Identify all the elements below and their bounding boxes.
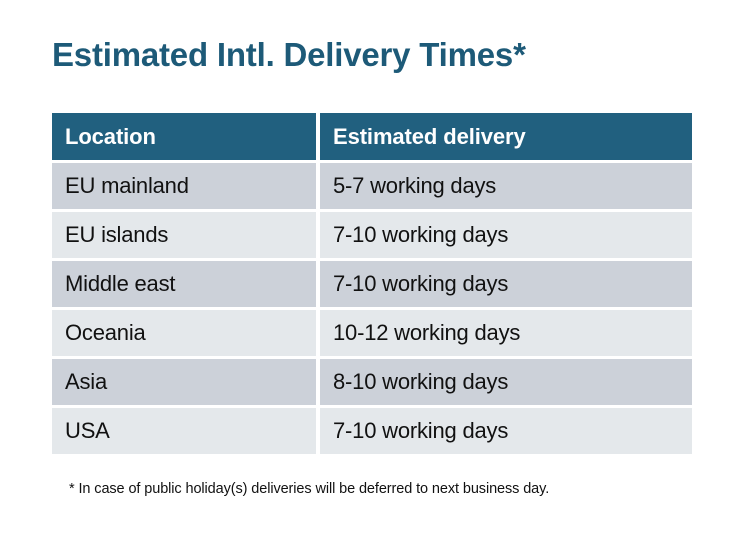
cell-estimated-delivery: 8-10 working days xyxy=(320,359,692,405)
cell-location: USA xyxy=(52,408,316,454)
cell-estimated-delivery: 7-10 working days xyxy=(320,261,692,307)
footnote: * In case of public holiday(s) deliverie… xyxy=(69,481,549,497)
cell-location: EU mainland xyxy=(52,163,316,209)
cell-estimated-delivery: 7-10 working days xyxy=(320,408,692,454)
delivery-times-document: Estimated Intl. Delivery Times* Location… xyxy=(0,0,745,536)
column-header-location: Location xyxy=(52,113,316,160)
cell-location: EU islands xyxy=(52,212,316,258)
table-header-row: Location Estimated delivery xyxy=(52,113,692,160)
table-row: Middle east 7-10 working days xyxy=(52,261,692,307)
table-row: Asia 8-10 working days xyxy=(52,359,692,405)
cell-location: Middle east xyxy=(52,261,316,307)
column-header-estimated-delivery: Estimated delivery xyxy=(320,113,692,160)
cell-estimated-delivery: 10-12 working days xyxy=(320,310,692,356)
cell-estimated-delivery: 7-10 working days xyxy=(320,212,692,258)
delivery-times-table: Location Estimated delivery EU mainland … xyxy=(52,113,692,457)
cell-estimated-delivery: 5-7 working days xyxy=(320,163,692,209)
page-title: Estimated Intl. Delivery Times* xyxy=(52,36,526,74)
table-row: EU islands 7-10 working days xyxy=(52,212,692,258)
table-row: USA 7-10 working days xyxy=(52,408,692,454)
table-row: Oceania 10-12 working days xyxy=(52,310,692,356)
cell-location: Asia xyxy=(52,359,316,405)
table-row: EU mainland 5-7 working days xyxy=(52,163,692,209)
cell-location: Oceania xyxy=(52,310,316,356)
